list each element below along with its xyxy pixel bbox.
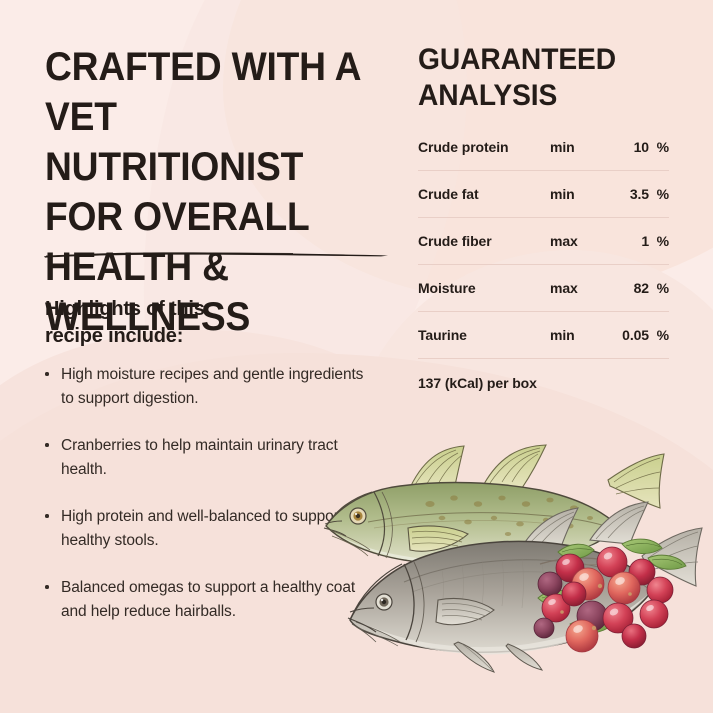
guaranteed-analysis-table: Crude protein min 10 % Crude fat min 3.5…: [418, 124, 669, 359]
table-row: Crude protein min 10 %: [418, 124, 669, 171]
nutrient-unit: %: [649, 280, 669, 296]
list-item: High moisture recipes and gentle ingredi…: [44, 363, 364, 410]
fish-and-cranberries-illustration: [312, 432, 710, 690]
bullet-dot-icon: [45, 514, 49, 518]
bullet-dot-icon: [45, 372, 49, 376]
ga-title-line-1: GUARANTEED: [418, 42, 644, 78]
nutrient-label: Taurine: [418, 327, 550, 343]
nutrient-label: Crude fiber: [418, 233, 550, 249]
nutrient-value: 0.05: [598, 327, 649, 343]
nutrient-qualifier: min: [550, 139, 598, 155]
nutrient-value: 82: [598, 280, 649, 296]
nutrient-value: 10: [598, 139, 649, 155]
headline-line-1: CRAFTED WITH A: [45, 42, 371, 92]
table-row: Taurine min 0.05 %: [418, 312, 669, 359]
nutrient-unit: %: [649, 233, 669, 249]
nutrient-label: Crude fat: [418, 186, 550, 202]
highlights-title: Highlights of this recipe include:: [45, 296, 285, 350]
nutrient-label: Moisture: [418, 280, 550, 296]
bullet-dot-icon: [45, 585, 49, 589]
product-info-graphic: CRAFTED WITH A VET NUTRITIONIST FOR OVER…: [0, 0, 713, 713]
table-row: Crude fat min 3.5 %: [418, 171, 669, 218]
ga-title-line-2: ANALYSIS: [418, 78, 644, 114]
list-item-text: High moisture recipes and gentle ingredi…: [61, 366, 363, 407]
nutrient-qualifier: min: [550, 186, 598, 202]
nutrient-unit: %: [649, 139, 669, 155]
highlights-title-line-1: Highlights of this: [45, 296, 285, 323]
table-row: Crude fiber max 1 %: [418, 218, 669, 265]
headline-underline-stroke: [43, 249, 389, 259]
table-row: Moisture max 82 %: [418, 265, 669, 312]
guaranteed-analysis-title: GUARANTEED ANALYSIS: [418, 42, 644, 114]
nutrient-value: 1: [598, 233, 649, 249]
calorie-content: 137 (kCal) per box: [418, 375, 537, 391]
highlights-title-line-2: recipe include:: [45, 323, 285, 350]
nutrient-unit: %: [649, 327, 669, 343]
nutrient-qualifier: max: [550, 280, 598, 296]
headline-line-3: FOR OVERALL: [45, 192, 371, 242]
list-item-text: Cranberries to help maintain urinary tra…: [61, 437, 338, 478]
nutrient-unit: %: [649, 186, 669, 202]
nutrient-value: 3.5: [598, 186, 649, 202]
headline-line-2: VET NUTRITIONIST: [45, 92, 371, 192]
nutrient-label: Crude protein: [418, 139, 550, 155]
nutrient-qualifier: max: [550, 233, 598, 249]
list-item-text: Balanced omegas to support a healthy coa…: [61, 579, 355, 620]
list-item-text: High protein and well-balanced to suppor…: [61, 508, 343, 549]
bullet-dot-icon: [45, 443, 49, 447]
nutrient-qualifier: min: [550, 327, 598, 343]
